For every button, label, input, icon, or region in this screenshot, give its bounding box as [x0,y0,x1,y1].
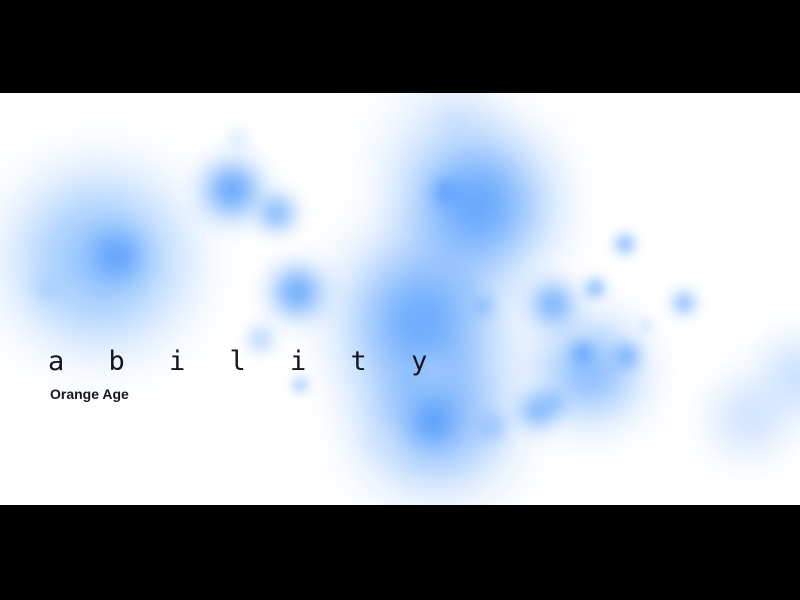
blob-big-top-ring [434,180,458,204]
blob-l2-medium [207,165,257,215]
blob-r1-dot-b [587,280,603,296]
blob-bottom-left-pale [368,431,394,457]
blob-big-top [420,147,536,263]
blob-right-medium [535,286,571,322]
blob-r1-dot-tiny [642,322,650,330]
blob-left-tiny [37,278,59,300]
blob-r1-dot-c [675,294,693,312]
blob-center-dot-b [456,280,472,296]
blob-right-big-dot [617,346,637,366]
blob-right-lower-a [523,397,551,425]
letterbox-bar-bottom [0,505,800,600]
letterbox-bar-top [0,0,800,93]
blob-edge-pale [716,387,780,451]
artwork-canvas: a b i l i t y Orange Age [0,93,800,505]
subtitle: Orange Age [50,387,441,401]
blob-right-big [548,329,632,413]
blob-bottom-right-dot [481,416,503,438]
blob-right-big-core [574,345,590,361]
blob-r1-dot [617,236,633,252]
blob-l2-small [261,197,293,229]
blob-l2-tiny-pale [230,131,246,147]
blob-top-halo-core [441,111,463,133]
blob-mid-left [275,270,319,314]
blob-top-halo [408,93,496,166]
blob-top-wash [372,102,488,218]
video-frame: a b i l i t y Orange Age [0,0,800,600]
page-title: a b i l i t y [48,348,441,375]
blob-center-dot-a [475,298,491,314]
blob-bottom-core [419,409,447,437]
title-block: a b i l i t y Orange Age [48,348,441,401]
blob-upper-left-core [95,234,139,278]
blob-edge-right [770,347,800,407]
blob-right-lower-b [543,393,563,413]
blob-upper-left-halo [20,180,180,340]
